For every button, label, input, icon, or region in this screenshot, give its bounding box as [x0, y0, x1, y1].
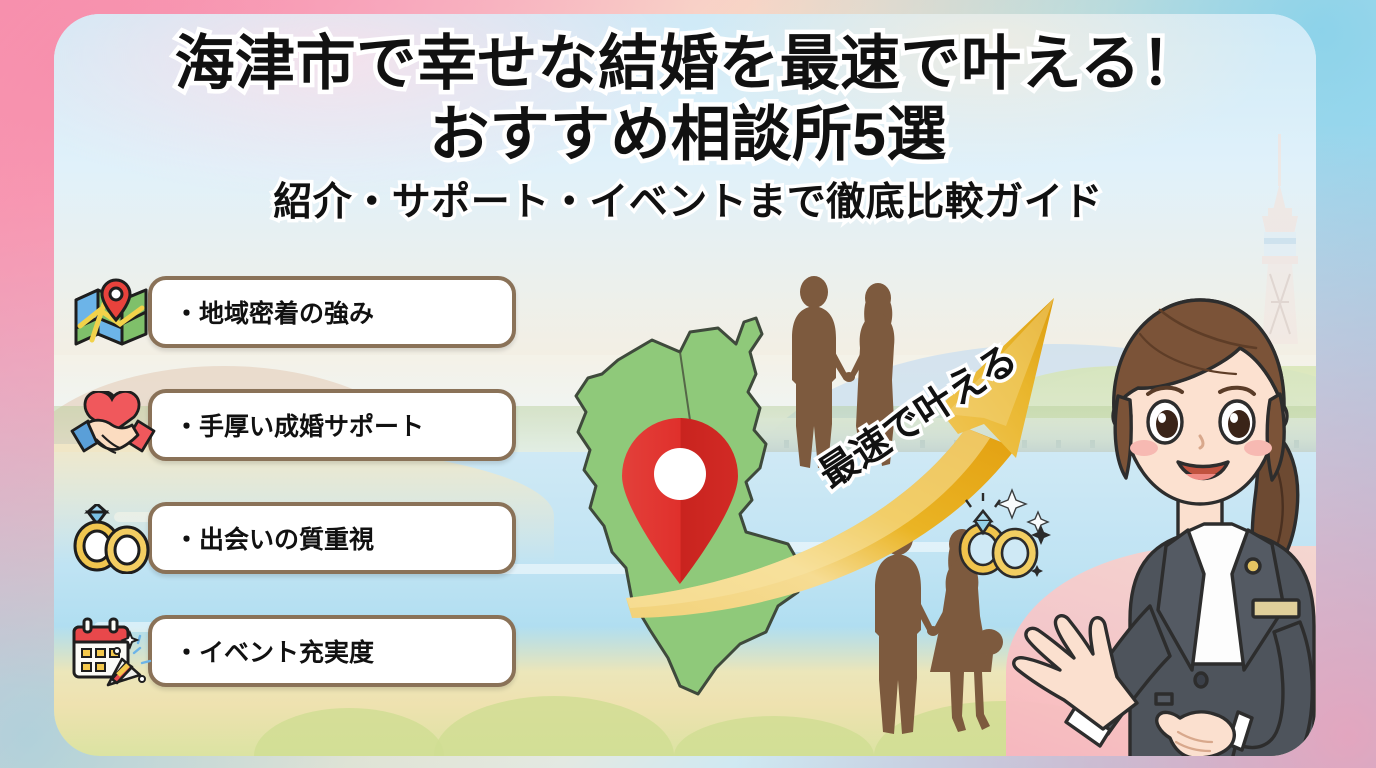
feature-item-0[interactable]: ・地域密着の強み	[70, 276, 530, 348]
feature-label-2: ・出会いの質重視	[174, 520, 374, 556]
feature-label-3: ・イベント充実度	[174, 633, 374, 669]
title-line-2: おすすめ相談所5選	[0, 103, 1376, 168]
feature-label-0: ・地域密着の強み	[174, 294, 374, 330]
feature-label-1: ・手厚い成婚サポート	[174, 407, 424, 443]
feature-list: ・地域密着の強み ・手厚い成婚サポート	[70, 276, 530, 728]
feature-box-2[interactable]: ・出会いの質重視	[148, 502, 516, 574]
feature-box-3[interactable]: ・イベント充実度	[148, 615, 516, 687]
map-icon	[70, 278, 156, 348]
consultant-character	[1010, 276, 1316, 756]
wedding-rings-icon	[70, 504, 156, 574]
title-block: 海津市で幸せな結婚を最速で叶える！ おすすめ相談所5選 紹介・サポート・イベント…	[0, 0, 1376, 224]
location-pin-icon	[616, 418, 744, 588]
calendar-party-icon	[70, 617, 156, 687]
feature-item-1[interactable]: ・手厚い成婚サポート	[70, 389, 530, 461]
handshake-heart-icon	[70, 391, 156, 461]
feature-box-1[interactable]: ・手厚い成婚サポート	[148, 389, 516, 461]
banner-canvas: 最速で叶える	[0, 0, 1376, 768]
feature-box-0[interactable]: ・地域密着の強み	[148, 276, 516, 348]
feature-item-3[interactable]: ・イベント充実度	[70, 615, 530, 687]
subtitle: 紹介・サポート・イベントまで徹底比較ガイド	[0, 182, 1376, 224]
feature-item-2[interactable]: ・出会いの質重視	[70, 502, 530, 574]
sparkle-icon	[994, 484, 1054, 544]
title-line-1: 海津市で幸せな結婚を最速で叶える！	[0, 32, 1376, 97]
